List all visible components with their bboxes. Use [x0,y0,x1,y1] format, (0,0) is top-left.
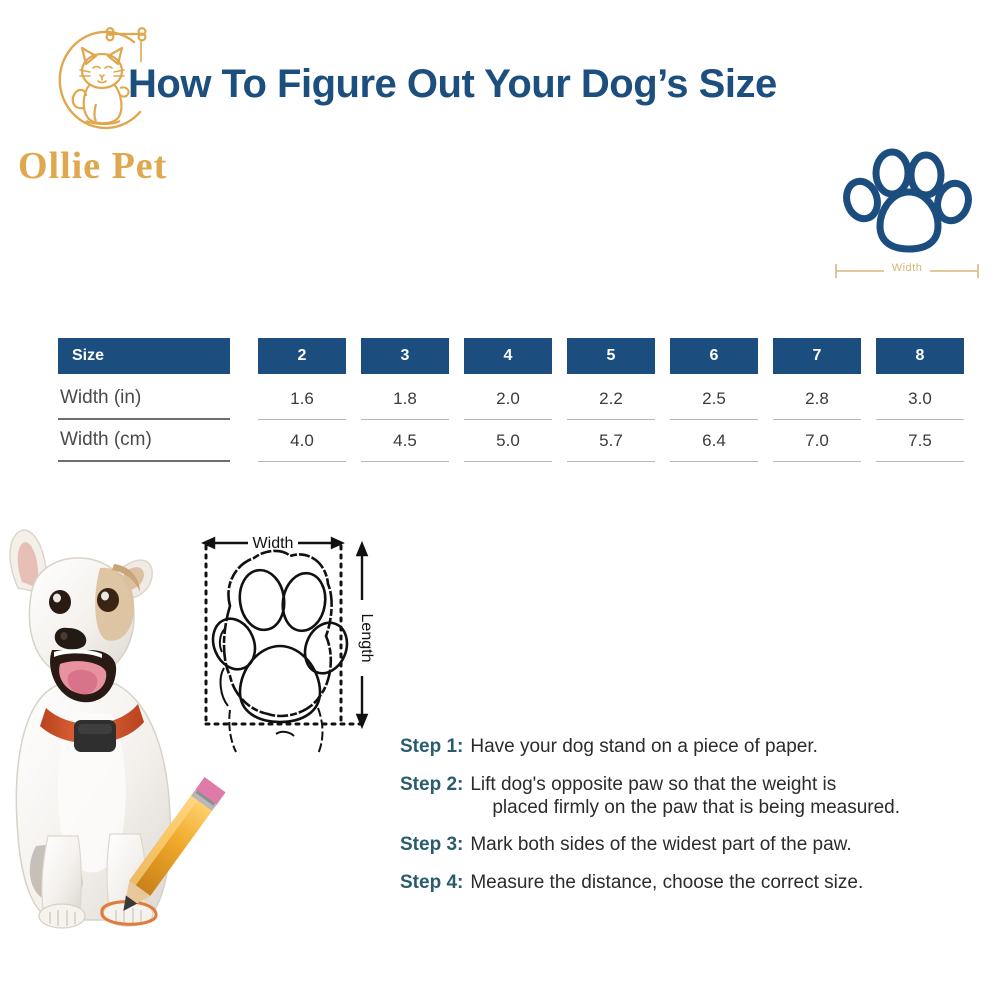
table-header-size-4: 4 [464,338,552,374]
size-guide-page: Ollie Pet How To Figure Out Your Dog’s S… [0,0,1000,1000]
cell-width-in-5: 2.2 [567,378,655,420]
cell-width-cm-3: 4.5 [361,420,449,462]
paw-print-icon [842,148,972,258]
cell-width-cm-5: 5.7 [567,420,655,462]
brand-name: Ollie Pet [18,144,167,188]
step-item-1: Step 1: Have your dog stand on a piece o… [400,736,980,759]
table-row: Width (cm) 4.0 4.5 5.0 5.7 6.4 7.0 7.5 [58,420,948,462]
cell-width-in-6: 2.5 [670,378,758,420]
cell-width-cm-8: 7.5 [876,420,964,462]
steps-list: Step 1: Have your dog stand on a piece o… [400,736,980,910]
paw-diagram-width-label: Width [253,535,294,552]
table-header-size-3: 3 [361,338,449,374]
table-header-size-2: 2 [258,338,346,374]
step-label-3: Step 3: [400,834,463,857]
cell-width-cm-2: 4.0 [258,420,346,462]
paw-width-label: Width [832,262,982,274]
step-label-2: Step 2: [400,774,463,820]
dog-paw-outline-diagram: Width Length [186,528,406,760]
step-text-4: Measure the distance, choose the correct… [470,872,980,895]
cell-width-in-3: 1.8 [361,378,449,420]
table-header-size-7: 7 [773,338,861,374]
cell-width-in-8: 3.0 [876,378,964,420]
page-title: How To Figure Out Your Dog’s Size [128,62,928,107]
table-header-row: Size 2 3 4 5 6 7 8 [58,338,948,374]
table-header-size: Size [58,338,230,374]
cell-width-in-4: 2.0 [464,378,552,420]
row-label-width-cm: Width (cm) [58,420,230,462]
step-item-3: Step 3: Mark both sides of the widest pa… [400,834,980,857]
table-header-size-5: 5 [567,338,655,374]
row-label-width-in: Width (in) [58,378,230,420]
step-label-4: Step 4: [400,872,463,895]
cell-width-cm-4: 5.0 [464,420,552,462]
table-header-size-6: 6 [670,338,758,374]
cell-width-in-2: 1.6 [258,378,346,420]
paw-icon-block: Width [832,148,982,288]
table-header-size-8: 8 [876,338,964,374]
table-row: Width (in) 1.6 1.8 2.0 2.2 2.5 2.8 3.0 [58,378,948,420]
paw-diagram-length-label: Length [358,614,375,663]
cell-width-cm-7: 7.0 [773,420,861,462]
size-table: Size 2 3 4 5 6 7 8 Width (in) 1.6 1.8 2.… [58,338,948,468]
step-text-2-line1: Lift dog's opposite paw so that the weig… [470,774,836,795]
step-item-2: Step 2: Lift dog's opposite paw so that … [400,774,980,820]
step-text-2-line2: placed firmly on the paw that is being m… [470,797,980,820]
cell-width-cm-6: 6.4 [670,420,758,462]
step-text-1: Have your dog stand on a piece of paper. [470,736,980,759]
step-text-3: Mark both sides of the widest part of th… [470,834,980,857]
step-item-4: Step 4: Measure the distance, choose the… [400,872,980,895]
cell-width-in-7: 2.8 [773,378,861,420]
step-text-2: Lift dog's opposite paw so that the weig… [470,774,980,820]
step-label-1: Step 1: [400,736,463,759]
